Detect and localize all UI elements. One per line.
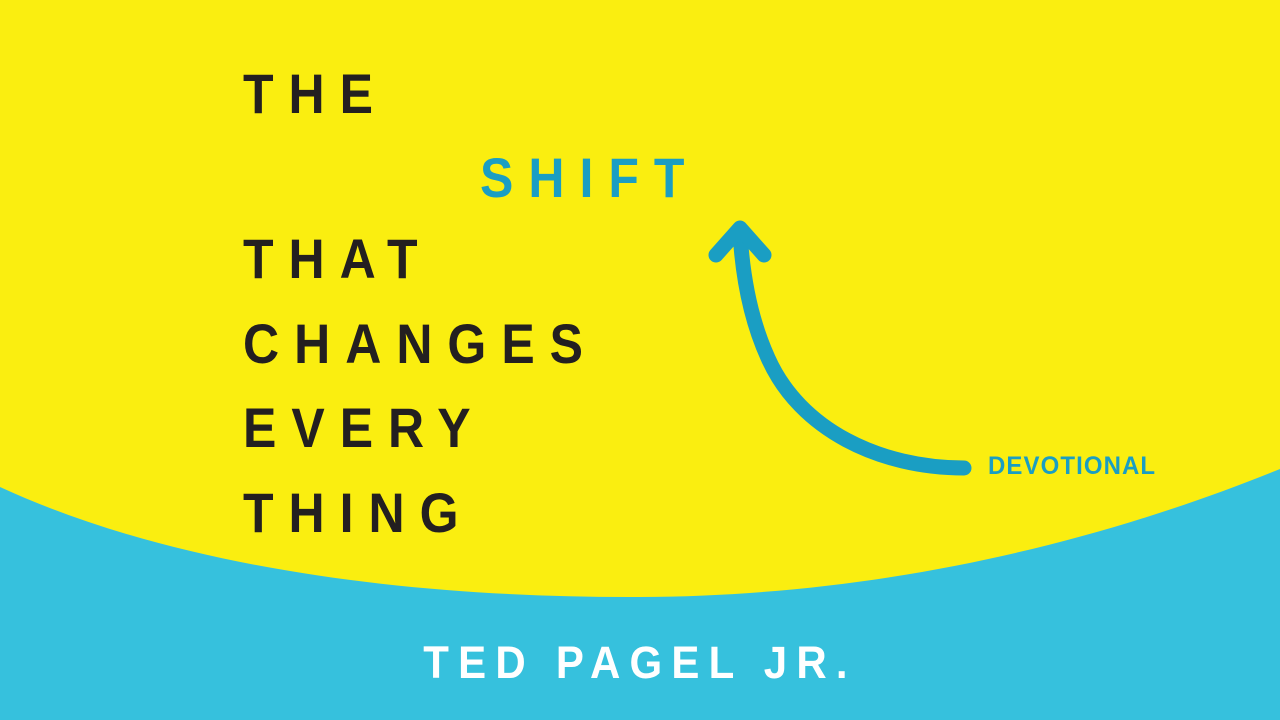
- author-name: TED PAGEL JR.: [0, 640, 1280, 685]
- book-cover: THE SHIFT THAT CHANGES EVERY THING DEVOT…: [0, 0, 1280, 720]
- title-line-shift: SHIFT: [480, 150, 699, 206]
- title-line-that: THAT: [243, 231, 433, 287]
- title-line-the: THE: [243, 66, 388, 122]
- title-line-every: EVERY: [243, 400, 486, 456]
- title-line-changes: CHANGES: [243, 316, 598, 372]
- devotional-label: DEVOTIONAL: [988, 454, 1156, 479]
- title-line-thing: THING: [243, 485, 474, 541]
